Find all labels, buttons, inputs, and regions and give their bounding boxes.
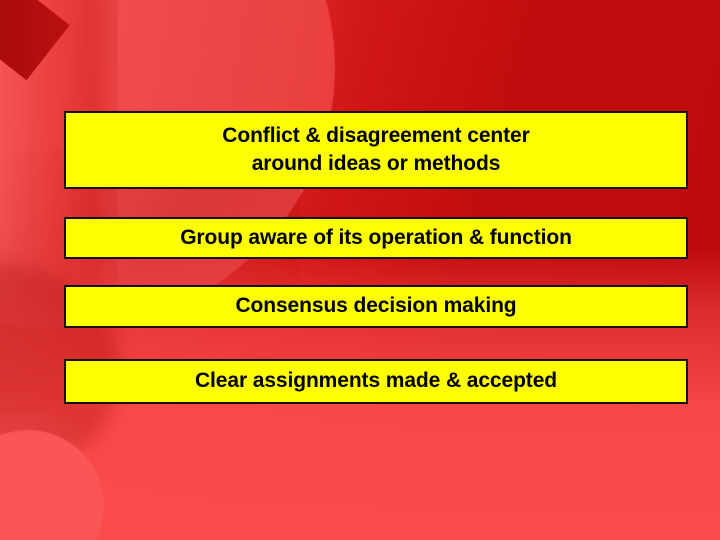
bullet-box-1-label: Conflict & disagreement center around id… [222,122,529,178]
presentation-slide: Conflict & disagreement center around id… [0,0,720,540]
bullet-box-4: Clear assignments made & accepted [64,359,688,404]
bullet-box-1: Conflict & disagreement center around id… [64,111,688,189]
bullet-box-2-label: Group aware of its operation & function [180,224,572,252]
bullet-box-3-label: Consensus decision making [235,292,516,320]
bullet-box-3: Consensus decision making [64,285,688,328]
bullet-box-2: Group aware of its operation & function [64,217,688,259]
bullet-box-list: Conflict & disagreement center around id… [0,0,720,540]
bullet-box-4-label: Clear assignments made & accepted [195,367,557,395]
